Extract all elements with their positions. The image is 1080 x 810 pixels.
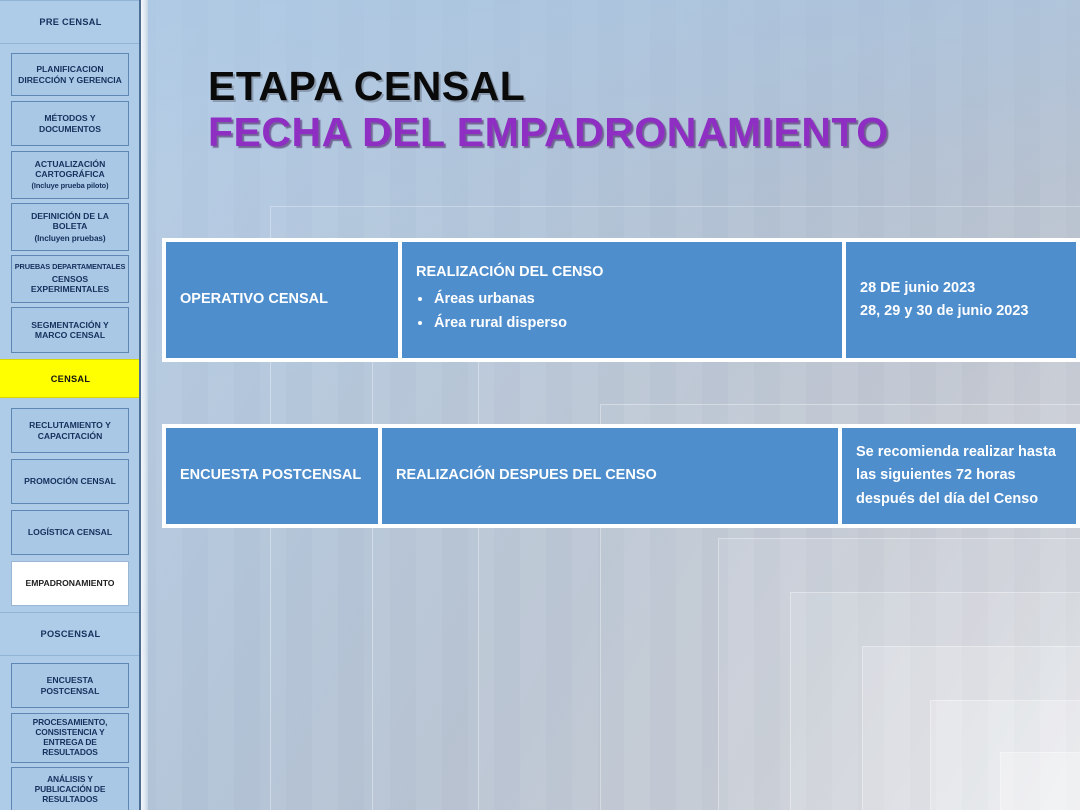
table-cell-fechas-censo: 28 DE junio 2023 28, 29 y 30 de junio 20… (846, 242, 1076, 358)
bullet-item: Áreas urbanas (416, 288, 828, 311)
sidebar-item-logistica-censal[interactable]: LOGÍSTICA CENSAL (11, 510, 129, 555)
node-subline: (Incluyen pruebas) (35, 234, 106, 244)
node-line: RECLUTAMIENTO Y (29, 420, 111, 430)
sidebar-band-censal[interactable]: CENSAL (0, 359, 141, 398)
node-line: SEGMENTACIÓN Y (31, 320, 109, 330)
sidebar-band-label: CENSAL (51, 374, 91, 384)
cell-text: ENCUESTA POSTCENSAL (180, 465, 364, 486)
node-subline: (Incluye prueba piloto) (32, 182, 109, 191)
slide-canvas: PRE CENSAL PLANIFICACION DIRECCIÓN Y GER… (0, 0, 1080, 810)
cell-heading: REALIZACIÓN DEL CENSO (416, 262, 828, 283)
cell-text: OPERATIVO CENSAL (180, 289, 384, 310)
node-line: EXPERIMENTALES (31, 284, 109, 294)
node-subline: PRUEBAS DEPARTAMENTALES (15, 263, 126, 272)
node-line: LOGÍSTICA CENSAL (28, 527, 112, 537)
date-line: 28, 29 y 30 de junio 2023 (860, 300, 1062, 323)
sidebar-item-censos-experimentales[interactable]: PRUEBAS DEPARTAMENTALES CENSOS EXPERIMEN… (11, 255, 129, 303)
node-line: ENCUESTA (47, 675, 94, 685)
node-line: BOLETA (53, 221, 88, 231)
sidebar-item-procesamiento-resultados[interactable]: PROCESAMIENTO, CONSISTENCIA Y ENTREGA DE… (11, 713, 129, 763)
sidebar-item-promocion-censal[interactable]: PROMOCIÓN CENSAL (11, 459, 129, 504)
note-line: Se recomienda realizar hasta (856, 441, 1062, 464)
date-line: 28 DE junio 2023 (860, 277, 1062, 300)
node-line: DIRECCIÓN Y GERENCIA (18, 75, 122, 85)
page-title: ETAPA CENSAL FECHA DEL EMPADRONAMIENTO (208, 66, 1008, 154)
sidebar-band-poscensal[interactable]: POSCENSAL (0, 612, 141, 656)
sidebar-item-segmentacion-marco-censal[interactable]: SEGMENTACIÓN Y MARCO CENSAL (11, 307, 129, 353)
node-line: ACTUALIZACIÓN (35, 159, 106, 169)
table-cell-encuesta-postcensal-label: ENCUESTA POSTCENSAL (166, 428, 378, 524)
sidebar-item-reclutamiento-capacitacion[interactable]: RECLUTAMIENTO Y CAPACITACIÓN (11, 408, 129, 453)
title-line-2: FECHA DEL EMPADRONAMIENTO (208, 111, 1008, 154)
node-line: PLANIFICACION (36, 64, 103, 74)
node-line: EMPADRONAMIENTO (26, 578, 115, 588)
node-line: POSTCENSAL (41, 686, 100, 696)
sidebar-band-label: POSCENSAL (41, 629, 101, 639)
table-encuesta-postcensal: ENCUESTA POSTCENSAL REALIZACIÓN DESPUES … (162, 424, 1080, 528)
note-line: las siguientes 72 horas (856, 464, 1062, 487)
process-sidebar: PRE CENSAL PLANIFICACION DIRECCIÓN Y GER… (0, 0, 141, 810)
node-line: DEFINICIÓN DE LA (31, 211, 109, 221)
sidebar-item-definicion-boleta[interactable]: DEFINICIÓN DE LA BOLETA (Incluyen prueba… (11, 203, 129, 251)
sidebar-item-empadronamiento[interactable]: EMPADRONAMIENTO (11, 561, 129, 606)
node-line: CENSOS (52, 274, 88, 284)
node-line: DOCUMENTOS (39, 124, 101, 134)
node-line: PROMOCIÓN CENSAL (24, 476, 116, 486)
node-line: RESULTADOS (42, 748, 97, 758)
table-cell-realizacion-despues-del-censo: REALIZACIÓN DESPUES DEL CENSO (382, 428, 838, 524)
sidebar-divider (141, 0, 148, 810)
sidebar-item-actualizacion-cartografica[interactable]: ACTUALIZACIÓN CARTOGRÁFICA (Incluye prue… (11, 151, 129, 199)
node-line: MÉTODOS Y (44, 113, 95, 123)
table-cell-recomendacion-72-horas: Se recomienda realizar hasta las siguien… (842, 428, 1076, 524)
node-line: MARCO CENSAL (35, 330, 105, 340)
sidebar-item-analisis-publicacion-resultados[interactable]: ANÁLISIS Y PUBLICACIÓN DE RESULTADOS (11, 767, 129, 810)
node-line: RESULTADOS (42, 795, 97, 805)
sidebar-band-pre-censal[interactable]: PRE CENSAL (0, 0, 141, 44)
table-cell-operativo-censal-label: OPERATIVO CENSAL (166, 242, 398, 358)
table-cell-realizacion-del-censo: REALIZACIÓN DEL CENSO Áreas urbanas Área… (402, 242, 842, 358)
sidebar-item-encuesta-postcensal[interactable]: ENCUESTA POSTCENSAL (11, 663, 129, 708)
bullet-item: Área rural disperso (416, 312, 828, 335)
cell-text: REALIZACIÓN DESPUES DEL CENSO (396, 465, 824, 486)
title-line-1: ETAPA CENSAL (208, 66, 1008, 107)
sidebar-item-planificacion[interactable]: PLANIFICACION DIRECCIÓN Y GERENCIA (11, 53, 129, 96)
note-line: después del día del Censo (856, 488, 1062, 511)
sidebar-band-label: PRE CENSAL (39, 17, 101, 27)
table-operativo-censal: OPERATIVO CENSAL REALIZACIÓN DEL CENSO Á… (162, 238, 1080, 362)
sidebar-item-metodos-documentos[interactable]: MÉTODOS Y DOCUMENTOS (11, 101, 129, 146)
cell-bullet-list: Áreas urbanas Área rural disperso (416, 288, 828, 335)
node-line: CAPACITACIÓN (38, 431, 103, 441)
node-line: CARTOGRÁFICA (35, 169, 105, 179)
